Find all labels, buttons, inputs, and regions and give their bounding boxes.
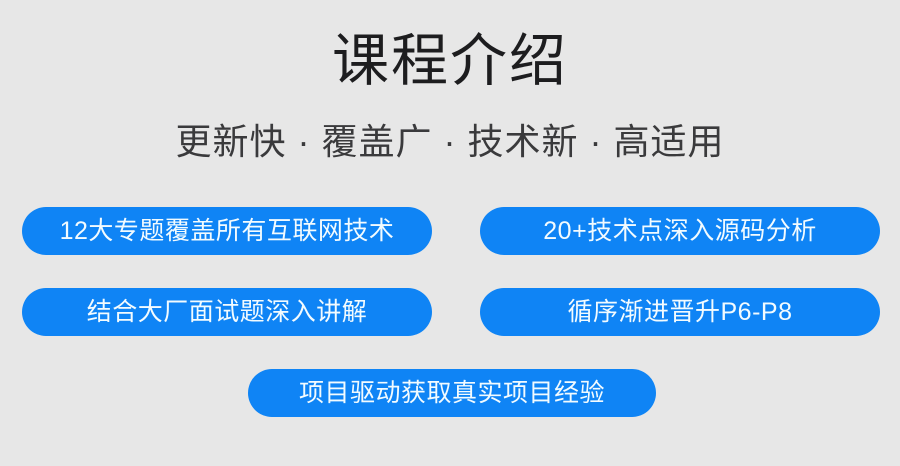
course-intro-banner: 课程介绍 更新快 · 覆盖广 · 技术新 · 高适用 12大专题覆盖所有互联网技… (0, 0, 900, 466)
page-title: 课程介绍 (0, 26, 900, 96)
feature-pill-project-experience[interactable]: 项目驱动获取真实项目经验 (248, 369, 656, 417)
feature-pill-promotion-p6-p8[interactable]: 循序渐进晋升P6-P8 (480, 288, 880, 336)
feature-pill-list: 12大专题覆盖所有互联网技术 20+技术点深入源码分析 结合大厂面试题深入讲解 … (0, 207, 900, 417)
page-subtitle: 更新快 · 覆盖广 · 技术新 · 高适用 (0, 118, 900, 166)
feature-pill-row: 12大专题覆盖所有互联网技术 20+技术点深入源码分析 (0, 207, 900, 255)
feature-pill-row: 结合大厂面试题深入讲解 循序渐进晋升P6-P8 (0, 288, 900, 336)
feature-pill-interview-questions[interactable]: 结合大厂面试题深入讲解 (22, 288, 432, 336)
feature-pill-20-tech-points[interactable]: 20+技术点深入源码分析 (480, 207, 880, 255)
feature-pill-12-topics[interactable]: 12大专题覆盖所有互联网技术 (22, 207, 432, 255)
feature-pill-row: 项目驱动获取真实项目经验 (0, 369, 900, 417)
